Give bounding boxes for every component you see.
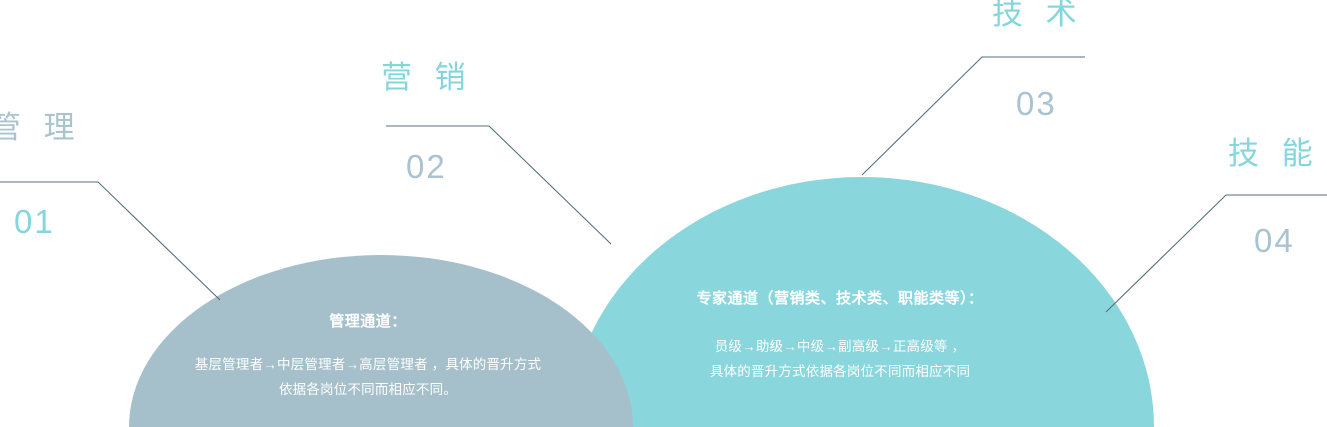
connector-01 [0, 182, 220, 300]
connector-02 [386, 126, 611, 244]
callout-title-04: 技 能 [1228, 138, 1320, 169]
callout-title-03: 技 术 [992, 0, 1084, 29]
callout-number-03: 03 [1016, 87, 1057, 120]
callout-number-02: 02 [406, 150, 447, 183]
callout-title-02: 营 销 [381, 62, 473, 93]
callout-number-01: 01 [14, 205, 55, 238]
callout-number-04: 04 [1254, 224, 1295, 257]
infographic-canvas: 管 理 01 营 销 02 技 术 03 技 能 04 管理通道： 基层管理者→… [0, 0, 1327, 427]
callout-title-01: 管 理 [0, 112, 82, 143]
connector-lines [0, 0, 1327, 427]
